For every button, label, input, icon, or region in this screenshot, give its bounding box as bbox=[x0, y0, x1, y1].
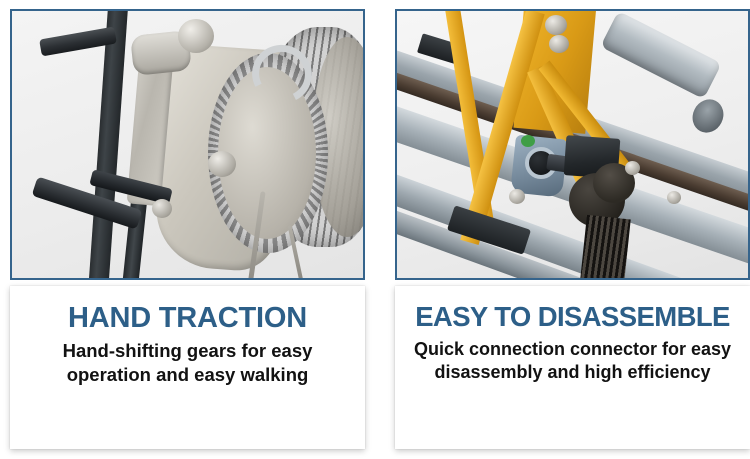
caption-title: EASY TO DISASSEMBLE bbox=[415, 303, 730, 332]
hex-bolt-2 bbox=[549, 35, 569, 53]
photo-frame-hand-traction bbox=[10, 9, 365, 280]
hex-bolt-4 bbox=[625, 161, 640, 175]
winch-bolt-upper bbox=[178, 19, 214, 53]
feature-panel-hand-traction: HAND TRACTION Hand-shifting gears for ea… bbox=[0, 0, 375, 459]
splined-shaft bbox=[579, 215, 630, 278]
galvanized-tube bbox=[600, 11, 722, 99]
feature-panel-easy-to-disassemble: EASY TO DISASSEMBLE Quick connection con… bbox=[375, 0, 750, 459]
galvanized-tube-end bbox=[687, 94, 729, 138]
photo-quick-connector bbox=[397, 11, 748, 278]
hex-bolt-1 bbox=[545, 15, 567, 35]
photo-hand-winch bbox=[12, 11, 363, 278]
caption-card-easy-to-disassemble: EASY TO DISASSEMBLE Quick connection con… bbox=[395, 286, 750, 449]
caption-card-hand-traction: HAND TRACTION Hand-shifting gears for ea… bbox=[10, 286, 365, 449]
caption-subtitle: Quick connection connector for easy disa… bbox=[408, 338, 738, 384]
hex-bolt-5 bbox=[667, 191, 681, 204]
feature-panel-board: HAND TRACTION Hand-shifting gears for ea… bbox=[0, 0, 750, 459]
winch-bolt-center bbox=[208, 151, 236, 177]
winch-black-frame-post bbox=[88, 11, 128, 278]
photo-frame-easy-to-disassemble bbox=[395, 9, 750, 280]
caption-subtitle: Hand-shifting gears for easy operation a… bbox=[23, 339, 353, 385]
hex-bolt-3 bbox=[509, 189, 525, 204]
caption-title: HAND TRACTION bbox=[68, 303, 307, 333]
winch-bolt-lower bbox=[152, 199, 172, 218]
green-grease-cap bbox=[521, 135, 535, 147]
